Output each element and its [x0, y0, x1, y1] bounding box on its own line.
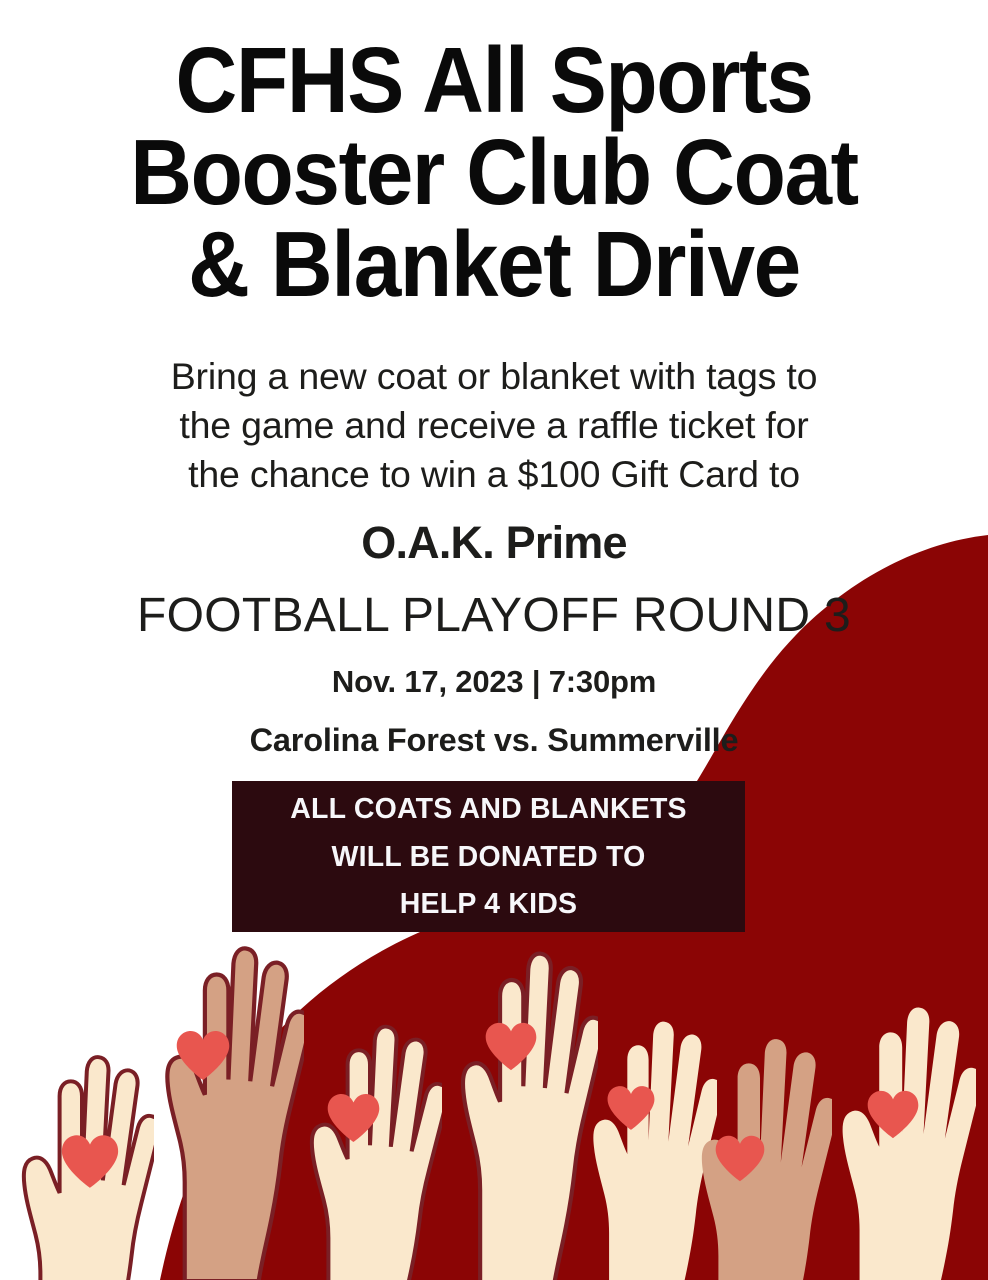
title-line-3: & Blanket Drive [104, 218, 884, 310]
hand-6 [702, 1039, 838, 1280]
hand-4 [463, 954, 604, 1280]
sponsor-name: O.A.K. Prime [0, 519, 988, 566]
instructions-line-3: the chance to win a $100 Gift Card to [110, 450, 878, 499]
heart-7 [868, 1091, 919, 1138]
banner-line-3: HELP 4 KIDS [400, 881, 577, 929]
event-name: FOOTBALL PLAYOFF ROUND 3 [0, 591, 988, 641]
hand-1 [24, 1057, 160, 1280]
donation-banner: ALL COATS AND BLANKETS WILL BE DONATED T… [232, 781, 745, 932]
instructions-text: Bring a new coat or blanket with tags to… [0, 352, 988, 498]
title-line-2: Booster Club Coat [104, 126, 884, 218]
heart-1 [62, 1135, 118, 1188]
poster-canvas: CFHS All Sports Booster Club Coat & Blan… [0, 0, 988, 1280]
title-line-1: CFHS All Sports [104, 34, 884, 126]
banner-line-1: ALL COATS AND BLANKETS [290, 786, 687, 834]
heart-3 [328, 1094, 380, 1142]
page-title: CFHS All Sports Booster Club Coat & Blan… [40, 0, 949, 310]
hand-5 [593, 1022, 722, 1280]
poster-content: CFHS All Sports Booster Club Coat & Blan… [0, 0, 988, 757]
banner-line-2: WILL BE DONATED TO [332, 834, 646, 882]
heart-4 [486, 1023, 537, 1070]
heart-6 [716, 1136, 765, 1181]
hand-7 [843, 1008, 982, 1280]
event-datetime: Nov. 17, 2023 | 7:30pm [0, 666, 988, 699]
heart-2 [177, 1031, 230, 1080]
event-matchup: Carolina Forest vs. Summerville [0, 723, 988, 757]
hand-2 [167, 948, 310, 1280]
instructions-line-1: Bring a new coat or blanket with tags to [110, 352, 878, 401]
heart-5 [608, 1086, 655, 1130]
hand-3 [312, 1027, 448, 1280]
instructions-line-2: the game and receive a raffle ticket for [110, 401, 878, 450]
